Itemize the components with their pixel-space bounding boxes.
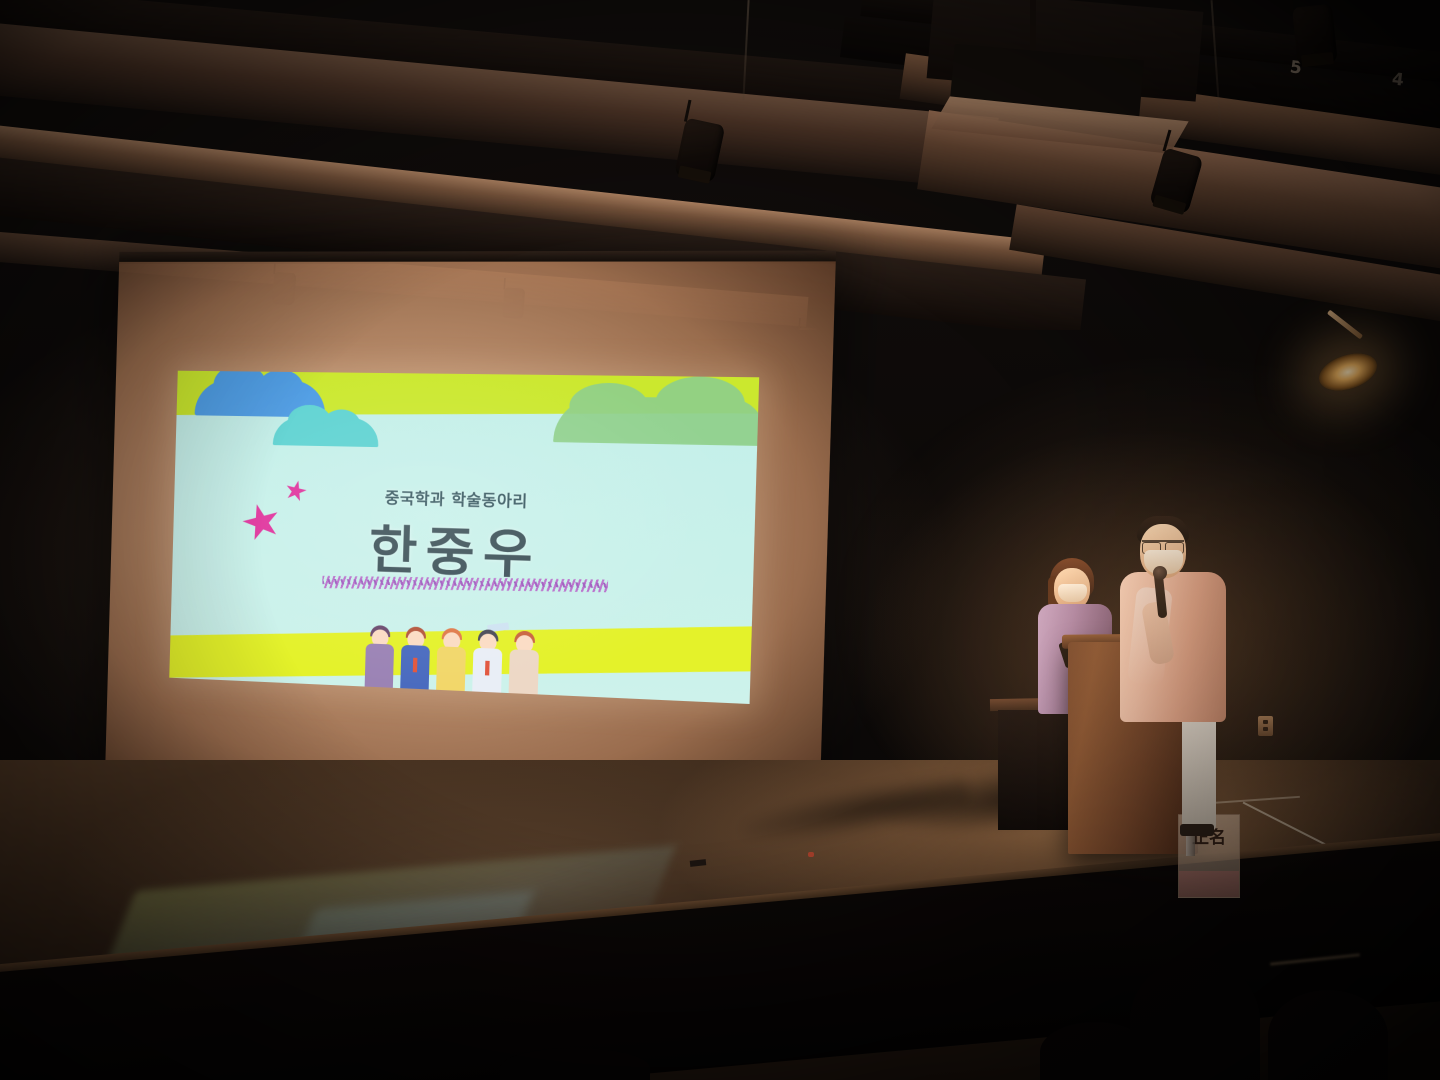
hill-icon <box>553 396 759 446</box>
projection-screen: ★ ★ 중국학과 학술동아리 한중우 <box>105 261 836 822</box>
figure-tie <box>485 661 490 676</box>
speaker-front <box>1118 514 1228 844</box>
speaker-shoe <box>1180 824 1214 836</box>
cloud-icon <box>273 417 379 448</box>
figure-body <box>509 649 539 694</box>
projected-slide: ★ ★ 중국학과 학술동아리 한중우 <box>169 371 759 704</box>
floor-marking-dot <box>808 852 814 857</box>
floor-marking-tape <box>690 859 707 867</box>
student-figure <box>362 623 398 688</box>
face-mask-icon <box>1058 584 1087 602</box>
glasses-icon <box>1142 540 1184 550</box>
audience-silhouette <box>1040 1022 1150 1080</box>
truss-number-label: 4 <box>1391 69 1405 90</box>
student-figure <box>469 627 506 693</box>
student-figure <box>397 624 434 690</box>
speaker-trousers <box>1182 712 1216 830</box>
figure-body <box>365 643 394 687</box>
student-illustration-group <box>356 622 549 694</box>
student-figure <box>433 625 470 691</box>
projector-bracket <box>1030 0 1036 50</box>
figure-body <box>436 646 466 691</box>
podium-sign-color-band <box>1179 871 1239 897</box>
audience-silhouette <box>500 1048 650 1080</box>
wall-power-outlet <box>1258 716 1273 736</box>
figure-tie <box>413 658 418 673</box>
audience-silhouette <box>1268 990 1388 1080</box>
podium-and-speakers: 正名 <box>990 500 1290 870</box>
student-figure <box>505 628 542 694</box>
microphone-head-icon <box>1153 566 1167 580</box>
stage-photograph: 5 4 <box>0 0 1440 1080</box>
